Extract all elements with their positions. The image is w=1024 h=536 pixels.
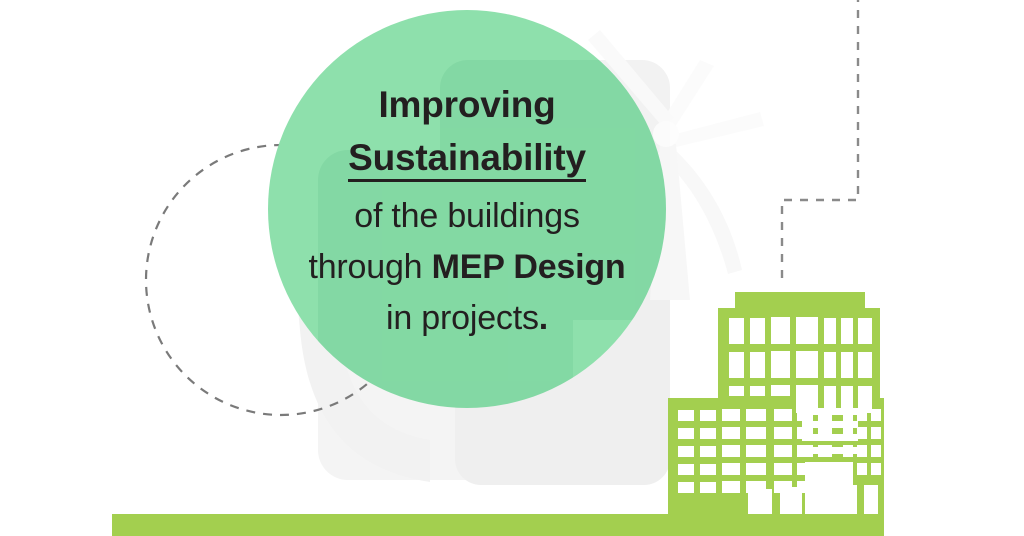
- headline-block: Improving Sustainability of the building…: [269, 0, 665, 408]
- headline-line-4-prefix: through: [308, 248, 431, 286]
- headline-line-5-period: .: [539, 299, 548, 337]
- headline-line-1: Improving: [378, 86, 555, 123]
- headline-line-4: through MEP Design: [308, 250, 625, 284]
- headline-line-4-emphasis: MEP Design: [432, 248, 626, 286]
- headline-line-3: of the buildings: [354, 199, 580, 233]
- headline-line-5: in projects.: [386, 301, 548, 335]
- poster-canvas: Improving Sustainability of the building…: [0, 0, 1024, 536]
- headline-line-2-underlined: Sustainability: [348, 139, 586, 182]
- headline-line-5-text: in projects: [386, 299, 539, 337]
- dashed-step-path: [782, 0, 858, 280]
